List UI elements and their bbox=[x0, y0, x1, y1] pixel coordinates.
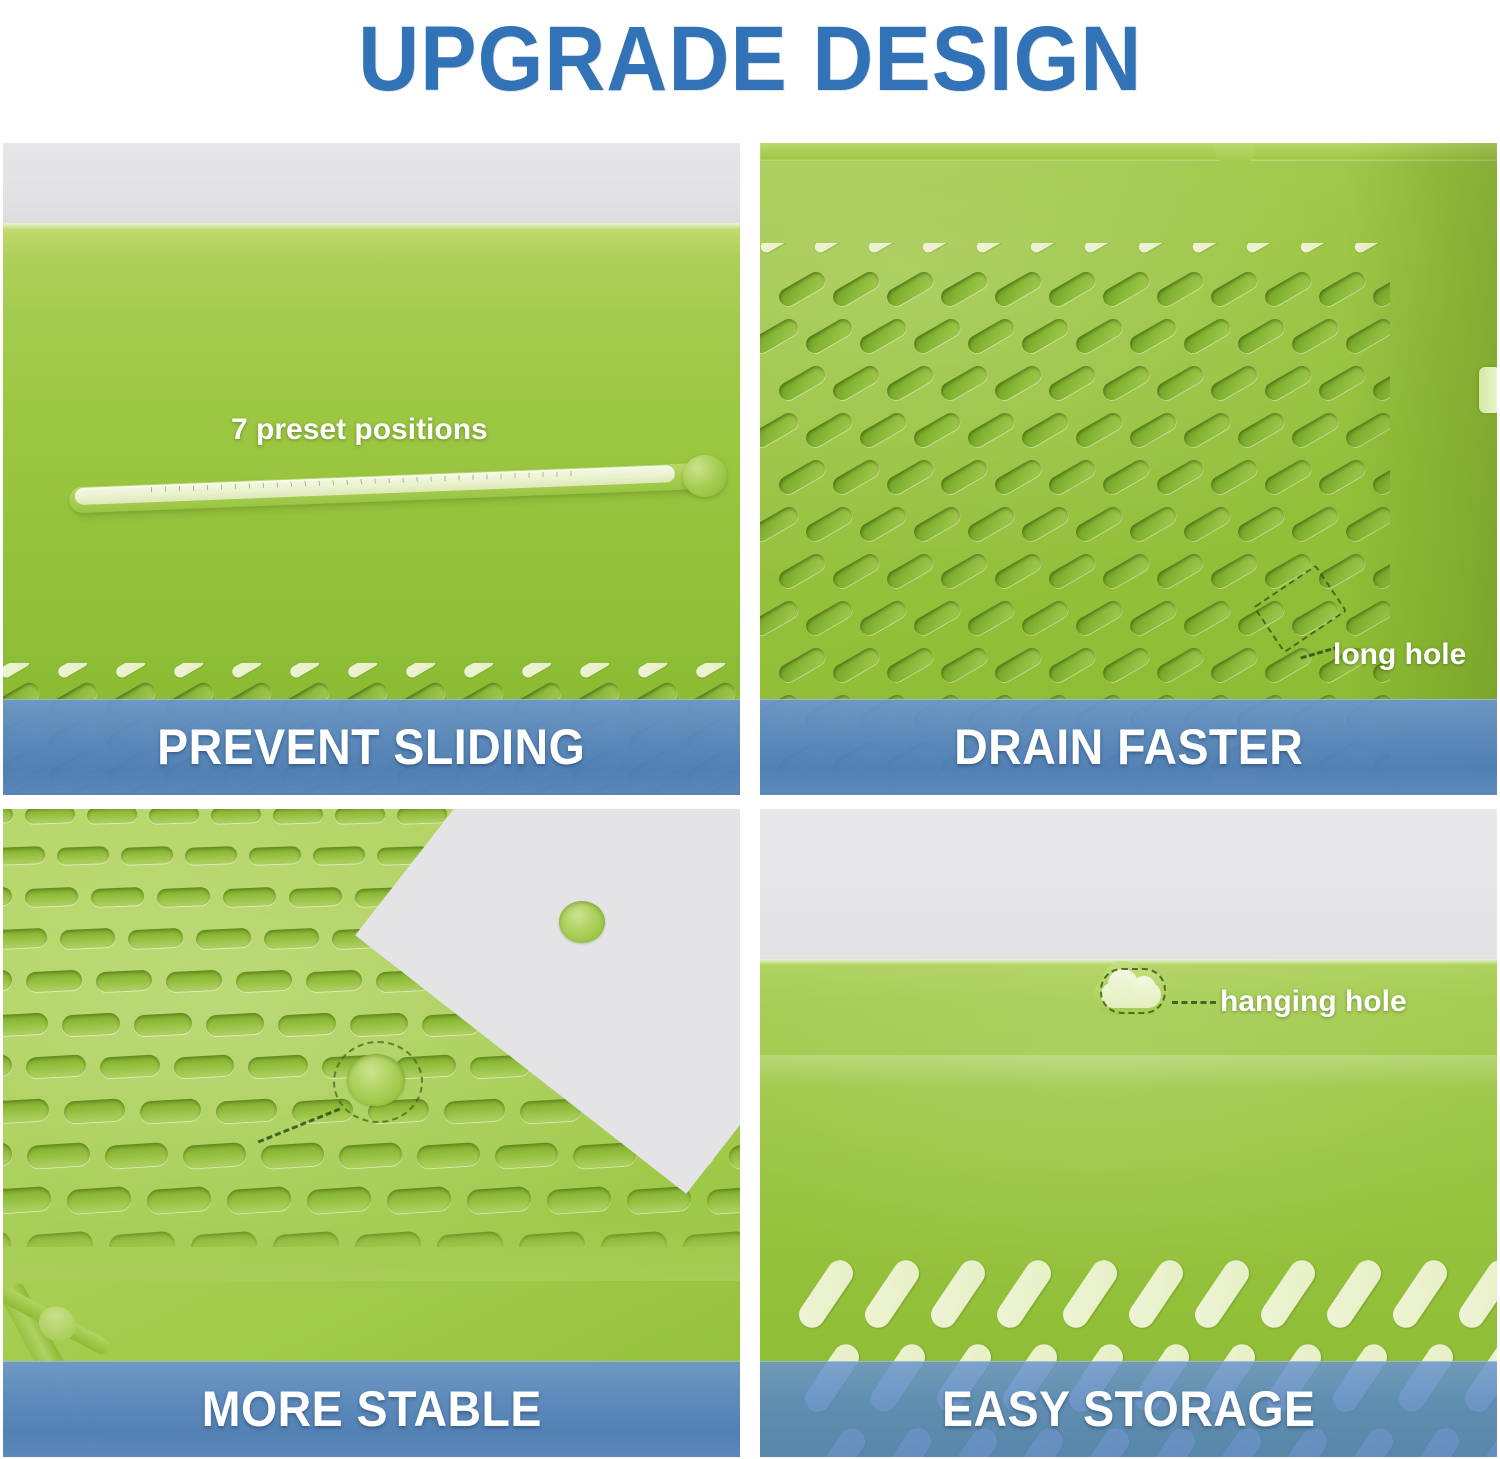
perforation-slot bbox=[992, 363, 1044, 404]
perforation-slot bbox=[87, 809, 138, 824]
perforation-slot bbox=[157, 887, 211, 907]
perforation-slot bbox=[494, 1142, 558, 1169]
perforation-slot bbox=[211, 809, 262, 824]
perforation-slot bbox=[1322, 1255, 1386, 1333]
perforation-slot bbox=[3, 928, 47, 949]
backdrop-gray bbox=[760, 809, 1497, 959]
perforation-slot bbox=[830, 645, 882, 686]
perforation-slot bbox=[25, 970, 82, 992]
page-header: UPGRADE DESIGN bbox=[0, 0, 1500, 118]
perforation-slot bbox=[216, 1098, 278, 1124]
perforation-slot bbox=[444, 1098, 506, 1124]
perforation-slot bbox=[760, 598, 801, 639]
perforation-slot bbox=[803, 410, 855, 451]
perforation-slot bbox=[1073, 316, 1125, 357]
perforation-slot bbox=[884, 363, 936, 404]
perforation-slot bbox=[25, 809, 76, 824]
perforation-slot bbox=[965, 598, 1017, 639]
perforation-slot bbox=[803, 598, 855, 639]
perforation-slot bbox=[857, 504, 909, 545]
perforation-slot bbox=[1154, 363, 1206, 404]
perforation-slot bbox=[206, 1012, 265, 1036]
perforation-slot bbox=[1208, 363, 1260, 404]
perforation-slot bbox=[1262, 269, 1314, 310]
perforation-slot bbox=[1235, 316, 1287, 357]
interior-shadow bbox=[1347, 143, 1497, 795]
perforation-slot bbox=[1046, 363, 1098, 404]
perforation-slot bbox=[3, 1186, 52, 1214]
perforation-slot bbox=[965, 410, 1017, 451]
perforation-slot bbox=[462, 663, 496, 680]
banner-label: MORE STABLE bbox=[201, 1380, 541, 1438]
perforation-slot bbox=[992, 551, 1044, 592]
perforation-slot bbox=[3, 809, 13, 824]
backdrop-gray bbox=[3, 143, 740, 223]
perforation-slot bbox=[1100, 551, 1152, 592]
perforation-slot bbox=[694, 663, 728, 680]
perforation-slot bbox=[1208, 457, 1260, 498]
perforation-slot bbox=[911, 316, 963, 357]
perforation-slot bbox=[1181, 598, 1233, 639]
perforation-slot bbox=[578, 663, 612, 680]
perforation-slot bbox=[992, 645, 1044, 686]
perforation-slot bbox=[1127, 504, 1179, 545]
perforation-slot bbox=[306, 1186, 372, 1214]
perforation-slot bbox=[776, 363, 828, 404]
perforation-slot bbox=[813, 243, 845, 255]
perforation-slot bbox=[182, 1142, 246, 1169]
perforation-slot bbox=[66, 1186, 132, 1214]
perforation-slot bbox=[1235, 410, 1287, 451]
panel-banner-easy-storage: EASY STORAGE bbox=[760, 1361, 1497, 1457]
perforation-slot bbox=[1181, 410, 1233, 451]
perforation-slot bbox=[466, 1186, 532, 1214]
perforation-slot bbox=[248, 1055, 309, 1080]
perforation-slot bbox=[114, 663, 148, 680]
perforation-slot bbox=[965, 504, 1017, 545]
perforation-slot bbox=[1073, 410, 1125, 451]
perforation-slot bbox=[1256, 1255, 1320, 1333]
perforation-slot bbox=[884, 645, 936, 686]
perforation-slot bbox=[404, 663, 438, 680]
perforation-slot bbox=[26, 1142, 90, 1169]
hanging-hole-shape bbox=[1092, 959, 1170, 1017]
perforation-slot bbox=[174, 1055, 235, 1080]
four-pads-highlight-circle bbox=[333, 1041, 423, 1123]
perforation-slot bbox=[1245, 243, 1277, 255]
perforation-slot bbox=[1299, 243, 1331, 255]
perforation-slot bbox=[636, 663, 670, 680]
perforation-slot bbox=[830, 363, 882, 404]
perforation-slot bbox=[992, 269, 1044, 310]
perforation-slot bbox=[992, 457, 1044, 498]
hanging-hole-leader-line bbox=[1172, 1001, 1216, 1004]
perforation-slot bbox=[249, 846, 301, 865]
perforation-slot bbox=[884, 269, 936, 310]
perforation-slot bbox=[965, 316, 1017, 357]
banner-label: EASY STORAGE bbox=[942, 1380, 1315, 1438]
panel-easy-storage[interactable]: hanging hole EASY STORAGE bbox=[760, 809, 1497, 1457]
perforation-slot bbox=[278, 1012, 337, 1036]
panel-more-stable[interactable]: four pads MORE STABLE bbox=[3, 809, 740, 1457]
perforation-slot bbox=[1454, 1255, 1497, 1333]
perforation-slot bbox=[884, 551, 936, 592]
perforation-slot bbox=[288, 663, 322, 680]
perforation-slot bbox=[260, 1142, 324, 1169]
perforation-slot bbox=[1100, 645, 1152, 686]
perforation-slot bbox=[386, 1186, 452, 1214]
perforation-slot bbox=[95, 970, 152, 992]
perforation-slot bbox=[1019, 316, 1071, 357]
perforation-slot bbox=[149, 809, 200, 824]
perforation-slot bbox=[760, 316, 801, 357]
perforation-slot bbox=[1154, 457, 1206, 498]
perforation-slot bbox=[938, 645, 990, 686]
panel-banner-drain-faster: DRAIN FASTER bbox=[760, 699, 1497, 795]
perforation-slot bbox=[776, 551, 828, 592]
perforation-slot bbox=[1154, 645, 1206, 686]
perforation-slot bbox=[1019, 410, 1071, 451]
perforation-slot bbox=[776, 457, 828, 498]
perforation-slot bbox=[911, 410, 963, 451]
perforation-slot bbox=[1289, 504, 1341, 545]
perforation-slot bbox=[397, 809, 448, 824]
perforation-slot bbox=[57, 846, 109, 865]
colander-rim-highlight bbox=[3, 223, 740, 230]
perforation-slot bbox=[1191, 243, 1223, 255]
perforation-slot bbox=[938, 551, 990, 592]
perforation-slot bbox=[884, 457, 936, 498]
perforation-slot bbox=[938, 457, 990, 498]
perforation-slot bbox=[760, 504, 801, 545]
panel-banner-more-stable: MORE STABLE bbox=[3, 1361, 740, 1457]
perforation-slot bbox=[346, 663, 380, 680]
perforation-slot bbox=[3, 663, 32, 680]
perforation-slot bbox=[338, 1142, 402, 1169]
banner-label: DRAIN FASTER bbox=[954, 718, 1303, 776]
perforation-slot bbox=[223, 887, 277, 907]
perforation-slot bbox=[1046, 645, 1098, 686]
perforation-slot bbox=[867, 243, 899, 255]
perforation-slot bbox=[350, 1012, 409, 1036]
colander-body-sheen bbox=[760, 1055, 1497, 1089]
perforation-slot bbox=[803, 316, 855, 357]
perforation-slot bbox=[1100, 363, 1152, 404]
perforation-slot bbox=[1208, 551, 1260, 592]
perforation-slot bbox=[3, 1142, 12, 1169]
perforation-slot bbox=[263, 928, 319, 949]
perforation-slot bbox=[185, 846, 237, 865]
perforation-slot bbox=[1289, 316, 1341, 357]
perforation-slot bbox=[1046, 551, 1098, 592]
perforation-slot bbox=[760, 410, 801, 451]
perforation-slot bbox=[127, 928, 183, 949]
perforation-slot bbox=[546, 1186, 612, 1214]
perforation-slot bbox=[938, 363, 990, 404]
perforation-slot bbox=[100, 1055, 161, 1080]
perforation-slot bbox=[3, 970, 13, 992]
perforation-slot bbox=[62, 1012, 121, 1036]
perforation-slot bbox=[911, 504, 963, 545]
perforation-slot bbox=[992, 1255, 1056, 1333]
perforation-slot bbox=[1100, 457, 1152, 498]
perforation-slot bbox=[830, 269, 882, 310]
perforation-slot bbox=[1046, 457, 1098, 498]
perforation-slot bbox=[26, 1055, 87, 1080]
perforation-slot bbox=[776, 269, 828, 310]
perforation-slot bbox=[794, 1255, 858, 1333]
perforation-slot bbox=[857, 316, 909, 357]
perforation-slot bbox=[335, 809, 386, 824]
perforation-slot bbox=[1029, 243, 1061, 255]
callout-long-hole: long hole bbox=[1333, 638, 1466, 672]
panel-drain-faster[interactable]: long hole DRAIN FASTER bbox=[760, 143, 1497, 795]
perforation-slot bbox=[416, 1142, 480, 1169]
perforation-slot bbox=[860, 1255, 924, 1333]
perforation-slot bbox=[926, 1255, 990, 1333]
perforation-slot bbox=[1137, 243, 1169, 255]
perforation-slot bbox=[56, 663, 90, 680]
perforation-slot bbox=[64, 1098, 126, 1124]
perforation-slot bbox=[1019, 504, 1071, 545]
perforation-slot bbox=[1388, 1255, 1452, 1333]
perforation-slot bbox=[273, 809, 324, 824]
perforation-slot bbox=[1208, 269, 1260, 310]
perforation-slot bbox=[235, 970, 292, 992]
perforation-slot bbox=[226, 1186, 292, 1214]
perforation-slot bbox=[1262, 457, 1314, 498]
perforation-slot bbox=[172, 663, 206, 680]
perforation-slot bbox=[3, 1098, 50, 1124]
side-tab bbox=[1479, 367, 1497, 413]
perforation-slot bbox=[1124, 1255, 1188, 1333]
perforation-slot bbox=[305, 970, 362, 992]
perforation-slot bbox=[1262, 363, 1314, 404]
perforation-slot bbox=[1127, 598, 1179, 639]
perforation-slot bbox=[857, 598, 909, 639]
perforation-slot bbox=[760, 243, 791, 255]
perforation-slot bbox=[146, 1186, 212, 1214]
perforation-slot bbox=[728, 1142, 740, 1169]
perforation-slot bbox=[1083, 243, 1115, 255]
perforation-slot bbox=[1058, 1255, 1122, 1333]
perforation-slot bbox=[140, 1098, 202, 1124]
perforation-slot bbox=[230, 663, 264, 680]
feature-panel-grid: 7 preset positions PREVENT SLIDING long … bbox=[3, 143, 1497, 1457]
perforation-slot bbox=[1127, 410, 1179, 451]
perforation-slot bbox=[975, 243, 1007, 255]
perforation-slot bbox=[3, 846, 45, 865]
banner-label: PREVENT SLIDING bbox=[157, 718, 585, 776]
panel-prevent-sliding[interactable]: 7 preset positions PREVENT SLIDING bbox=[3, 143, 740, 795]
callout-preset-positions: 7 preset positions bbox=[231, 413, 488, 447]
perforation-slot bbox=[3, 1055, 12, 1080]
perforation-slot bbox=[1208, 645, 1260, 686]
perforation-slot bbox=[104, 1142, 168, 1169]
perforation-slot bbox=[1289, 410, 1341, 451]
rim-nub-top bbox=[1215, 143, 1255, 163]
perforation-slot bbox=[803, 504, 855, 545]
perforation-slot bbox=[289, 887, 343, 907]
perforation-slot bbox=[1100, 269, 1152, 310]
perforation-slot bbox=[830, 551, 882, 592]
perforation-slot bbox=[121, 846, 173, 865]
perforation-slot bbox=[1046, 269, 1098, 310]
stability-pad-upper bbox=[559, 901, 605, 943]
perforation-slot bbox=[776, 645, 828, 686]
perforation-slot bbox=[59, 928, 115, 949]
perforation-slot bbox=[165, 970, 222, 992]
perforation-slot bbox=[3, 887, 13, 907]
rail-knob bbox=[682, 454, 728, 498]
perforation-slot bbox=[1154, 269, 1206, 310]
perforation-slot bbox=[921, 243, 953, 255]
perforation-slot bbox=[25, 887, 79, 907]
perforation-slot bbox=[938, 269, 990, 310]
perforation-slot bbox=[3, 1012, 48, 1036]
perforation-slot bbox=[1235, 504, 1287, 545]
perforation-slot bbox=[520, 663, 554, 680]
perforation-slot bbox=[1154, 551, 1206, 592]
perforation-slot bbox=[1019, 598, 1071, 639]
perforation-slot bbox=[134, 1012, 193, 1036]
page-title: UPGRADE DESIGN bbox=[358, 13, 1142, 105]
perforation-slot bbox=[91, 887, 145, 907]
perforation-slot bbox=[1073, 504, 1125, 545]
perforation-slot bbox=[911, 598, 963, 639]
perforation-slot bbox=[1190, 1255, 1254, 1333]
hanging-hole-dash-outline bbox=[1100, 968, 1166, 1014]
perforation-slot bbox=[195, 928, 251, 949]
callout-hanging-hole: hanging hole bbox=[1220, 985, 1407, 1019]
perforation-slot bbox=[1127, 316, 1179, 357]
perforation-slot bbox=[313, 846, 365, 865]
perforation-slot bbox=[857, 410, 909, 451]
perforation-slot bbox=[1181, 504, 1233, 545]
perforation-slot bbox=[830, 457, 882, 498]
panel-banner-prevent-sliding: PREVENT SLIDING bbox=[3, 699, 740, 795]
perforation-slot bbox=[1073, 598, 1125, 639]
perforation-slot bbox=[706, 1186, 740, 1214]
perforation-slot bbox=[1181, 316, 1233, 357]
